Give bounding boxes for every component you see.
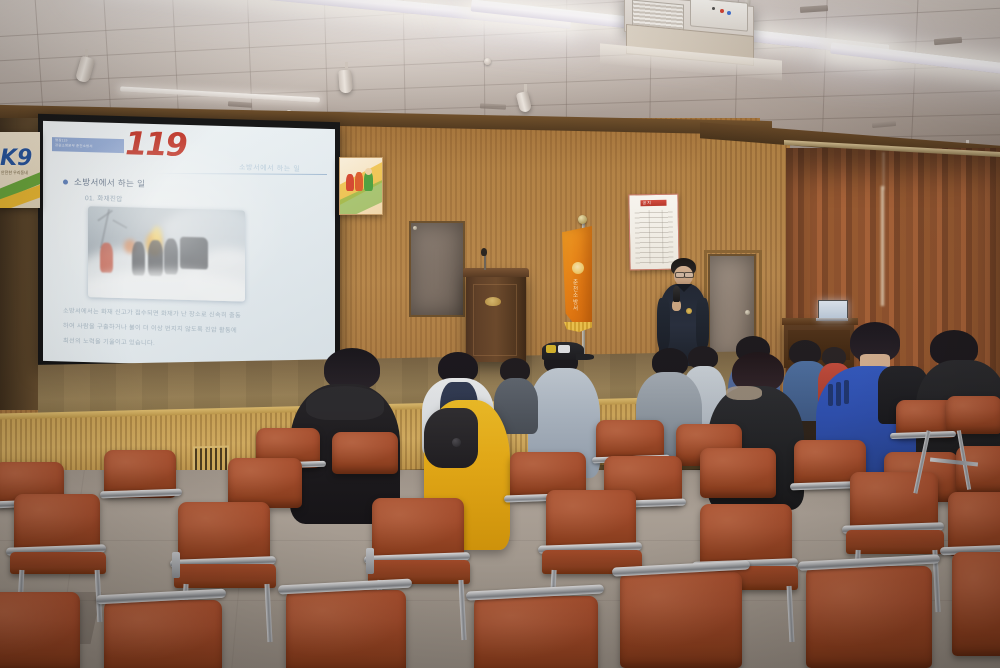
attendee-scarf (726, 386, 762, 400)
auditorium-chair[interactable] (620, 572, 742, 668)
presenter-arm-left (657, 298, 670, 350)
chair-seat[interactable] (846, 530, 944, 554)
auditorium-chair[interactable] (104, 600, 222, 668)
projector-indicator (727, 11, 731, 15)
poster-cartoon-safety (339, 157, 383, 215)
ceiling-speaker (338, 70, 353, 94)
poster-k9-subtext: 안전한 우리동네 (1, 170, 28, 176)
auditorium-scene: 명장119 강원소방본부 춘천소방서 119 소방서에서 하는 일 소방서에서 … (0, 0, 1000, 668)
auditorium-chair[interactable] (806, 566, 932, 668)
auditorium-chair[interactable] (332, 432, 398, 474)
jacket-shoulder-dark-panel (424, 408, 478, 468)
presenter-arm-right (696, 298, 709, 350)
podium-front-panel (473, 284, 517, 356)
handheld-microphone (673, 286, 680, 302)
auditorium-chair[interactable] (700, 448, 776, 498)
curtain-light-gap (880, 186, 885, 306)
attendee-jacket-stripe (828, 384, 833, 406)
podium-emblem (485, 297, 501, 306)
curtain-light-gap (882, 152, 885, 190)
chair-seat[interactable] (174, 564, 276, 588)
jacket-button (452, 438, 461, 447)
poster-cartoon-figure-head (365, 168, 372, 175)
poster-k9-logo: K9 (0, 146, 32, 171)
baseball-cap-patch (546, 345, 556, 353)
presenter-badge (686, 308, 692, 314)
attendee-jacket-stripe (844, 380, 849, 404)
sprinkler-head (484, 58, 491, 65)
flag-text: 춘천소방서 (573, 280, 583, 313)
baseball-cap-patch (558, 345, 570, 353)
projector-unit (690, 0, 748, 32)
baseball-cap-brim (576, 354, 594, 360)
door-handle[interactable] (413, 226, 417, 230)
poster-cartoon-figure (346, 174, 354, 191)
flag-finial (578, 215, 587, 224)
auditorium-chair[interactable] (946, 396, 1000, 434)
poster-cartoon-figure (355, 172, 363, 191)
auditorium-chair[interactable] (474, 596, 598, 668)
stage-side-door[interactable] (409, 221, 465, 317)
auditorium-chair[interactable] (286, 590, 406, 668)
poster-left-k9: K9 안전한 우리동네 (0, 132, 40, 208)
projector-indicator (720, 9, 724, 13)
presenter-glasses (684, 272, 694, 278)
attendee-jacket-stripe (836, 382, 841, 406)
flag-emblem (572, 262, 584, 274)
auditorium-chair[interactable] (952, 552, 1000, 656)
chair-bracket (366, 548, 374, 574)
auditorium-chair[interactable] (0, 592, 80, 668)
ceremonial-flag (562, 226, 592, 330)
chair-bracket (172, 552, 180, 578)
auditorium-chair[interactable] (228, 458, 302, 508)
notice-rows (635, 210, 674, 265)
podium-mic-stem (484, 254, 486, 270)
chair-seat[interactable] (10, 552, 106, 574)
notice-header-text: 공 지 (642, 200, 651, 206)
attendee-hood (306, 386, 384, 420)
slide-projector-glow (43, 121, 335, 369)
gooseneck-microphone (481, 248, 487, 256)
podium-top (463, 268, 529, 277)
presentation-slide: 명장119 강원소방본부 춘천소방서 119 소방서에서 하는 일 소방서에서 … (43, 121, 335, 369)
laptop-base (816, 318, 848, 321)
projector-indicator (712, 7, 715, 10)
